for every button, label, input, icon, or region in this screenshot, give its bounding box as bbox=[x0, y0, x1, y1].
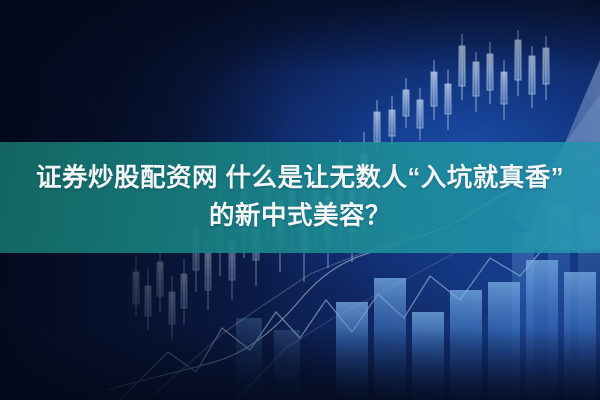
headline-line-2: 的新中式美容？ bbox=[209, 199, 391, 234]
title-banner: 证券炒股配资网 什么是让无数人“入坑就真香” 的新中式美容？ bbox=[0, 142, 600, 253]
headline-block: 证券炒股配资网 什么是让无数人“入坑就真香” 的新中式美容？ bbox=[0, 142, 600, 253]
headline-line-1: 证券炒股配资网 什么是让无数人“入坑就真香” bbox=[36, 161, 564, 196]
poster-canvas: 证券炒股配资网 什么是让无数人“入坑就真香” 的新中式美容？ bbox=[0, 0, 600, 400]
